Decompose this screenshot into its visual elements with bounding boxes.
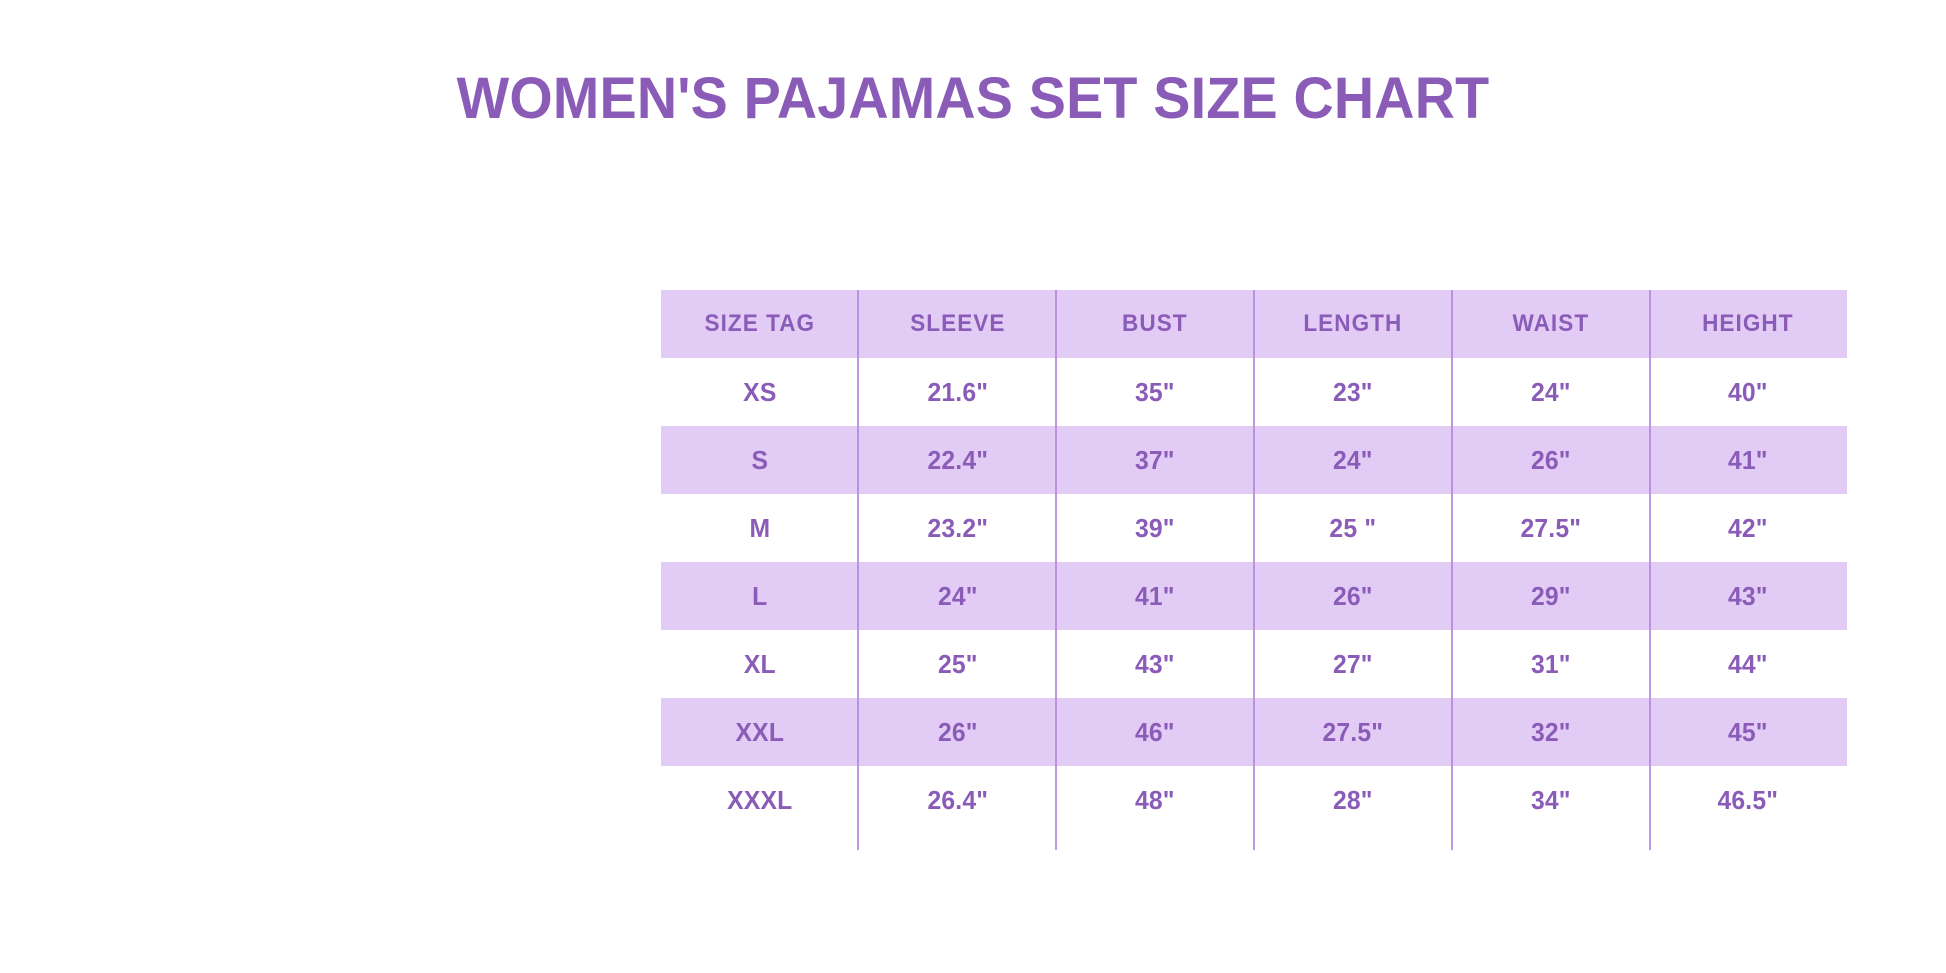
cell-waist: 32" — [1457, 698, 1645, 766]
cell-sleeve: 24" — [864, 562, 1052, 630]
cell-waist: 24" — [1457, 358, 1645, 426]
cell-length: 27.5" — [1259, 698, 1447, 766]
cell-height: 44" — [1654, 630, 1842, 698]
cell-size-tag: L — [666, 562, 854, 630]
cell-sleeve: 25" — [864, 630, 1052, 698]
column-header-waist: WAIST — [1458, 290, 1644, 358]
cell-height: 42" — [1654, 494, 1842, 562]
cell-sleeve: 22.4" — [864, 426, 1052, 494]
cell-length: 26" — [1259, 562, 1447, 630]
table-row: XS 21.6" 35" 23" 24" 40" — [661, 358, 1847, 426]
table-row: XXXL 26.4" 48" 28" 34" 46.5" — [661, 766, 1847, 834]
cell-bust: 46" — [1061, 698, 1249, 766]
table-row: XXL 26" 46" 27.5" 32" 45" — [661, 698, 1847, 766]
table-header-row: SIZE TAG SLEEVE BUST LENGTH WAIST HEIGHT — [661, 290, 1847, 358]
cell-bust: 48" — [1061, 766, 1249, 834]
cell-sleeve: 21.6" — [864, 358, 1052, 426]
cell-bust: 43" — [1061, 630, 1249, 698]
cell-waist: 34" — [1457, 766, 1645, 834]
cell-length: 23" — [1259, 358, 1447, 426]
cell-height: 46.5" — [1654, 766, 1842, 834]
column-header-size-tag: SIZE TAG — [667, 290, 853, 358]
cell-length: 25 " — [1259, 494, 1447, 562]
cell-length: 27" — [1259, 630, 1447, 698]
cell-sleeve: 23.2" — [864, 494, 1052, 562]
column-header-length: LENGTH — [1260, 290, 1446, 358]
cell-size-tag: XL — [666, 630, 854, 698]
table-row: XL 25" 43" 27" 31" 44" — [661, 630, 1847, 698]
cell-waist: 29" — [1457, 562, 1645, 630]
column-header-bust: BUST — [1062, 290, 1248, 358]
cell-sleeve: 26.4" — [864, 766, 1052, 834]
cell-bust: 37" — [1061, 426, 1249, 494]
column-header-sleeve: SLEEVE — [865, 290, 1051, 358]
cell-size-tag: XXXL — [666, 766, 854, 834]
cell-bust: 35" — [1061, 358, 1249, 426]
table-row: L 24" 41" 26" 29" 43" — [661, 562, 1847, 630]
cell-height: 41" — [1654, 426, 1842, 494]
cell-height: 43" — [1654, 562, 1842, 630]
cell-waist: 26" — [1457, 426, 1645, 494]
table-row: S 22.4" 37" 24" 26" 41" — [661, 426, 1847, 494]
cell-sleeve: 26" — [864, 698, 1052, 766]
table-row: M 23.2" 39" 25 " 27.5" 42" — [661, 494, 1847, 562]
cell-waist: 31" — [1457, 630, 1645, 698]
size-chart-page: WOMEN'S PAJAMAS SET SIZE CHART SIZE TAG … — [0, 0, 1946, 973]
cell-length: 24" — [1259, 426, 1447, 494]
cell-bust: 41" — [1061, 562, 1249, 630]
cell-size-tag: S — [666, 426, 854, 494]
cell-size-tag: XXL — [666, 698, 854, 766]
size-chart-table: SIZE TAG SLEEVE BUST LENGTH WAIST HEIGHT… — [661, 290, 1847, 834]
cell-length: 28" — [1259, 766, 1447, 834]
cell-height: 45" — [1654, 698, 1842, 766]
cell-bust: 39" — [1061, 494, 1249, 562]
column-header-height: HEIGHT — [1655, 290, 1841, 358]
cell-waist: 27.5" — [1457, 494, 1645, 562]
cell-size-tag: XS — [666, 358, 854, 426]
page-title: WOMEN'S PAJAMAS SET SIZE CHART — [39, 64, 1907, 134]
cell-height: 40" — [1654, 358, 1842, 426]
cell-size-tag: M — [666, 494, 854, 562]
